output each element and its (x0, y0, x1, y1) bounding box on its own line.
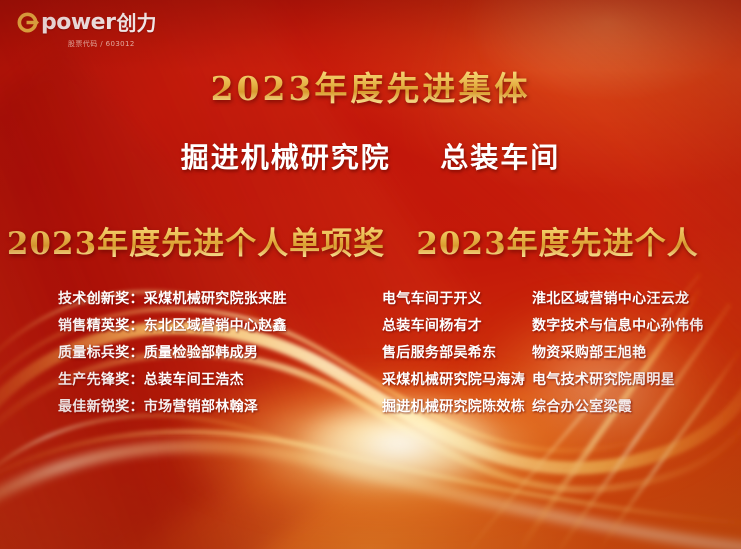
award-poster: power 创力 股票代码 / 603012 2023年度先进集体 掘进机械研究… (0, 0, 741, 549)
background-vignette (0, 0, 741, 549)
